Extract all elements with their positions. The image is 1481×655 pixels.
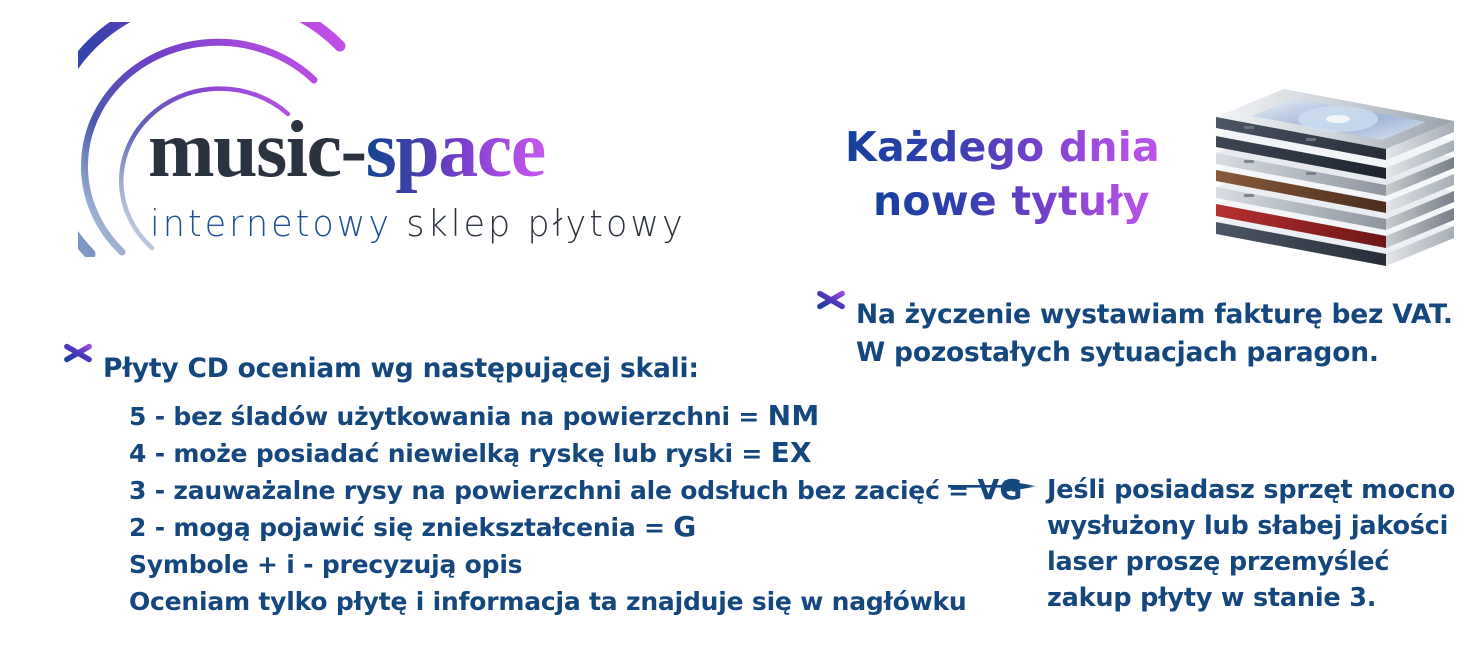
- tagline-part-sklep-plytowy: sklep płytowy: [392, 204, 686, 246]
- grading-row-grade: EX: [771, 436, 812, 469]
- grading-row: 2 - mogą pojawić się zniekształcenia = G: [129, 509, 1023, 546]
- wordmark-music: music-: [148, 106, 366, 194]
- grading-row: Oceniam tylko płytę i informacja ta znaj…: [129, 583, 1023, 620]
- banner-canvas: music-space internetowy sklep płytowy Ka…: [0, 0, 1481, 655]
- vat-note-line-1: Na życzenie wystawiam fakturę bez VAT.: [856, 296, 1453, 334]
- advice-line: laser proszę przemyśleć: [1047, 544, 1455, 580]
- grading-heading: Płyty CD oceniam wg następującej skali:: [103, 352, 699, 386]
- advice-note: Jeśli posiadasz sprzęt mocno wysłużony l…: [1047, 472, 1455, 616]
- tagline-part-internetowy: internetowy: [150, 204, 392, 246]
- grading-row-grade: G: [673, 510, 696, 543]
- grading-row-text: 4 - może posiadać niewielką ryskę lub ry…: [129, 439, 771, 468]
- brand-logo[interactable]: music-space internetowy sklep płytowy: [78, 22, 778, 257]
- slogan: Każdego dnia nowe tytuły: [845, 120, 1160, 228]
- grading-row: 5 - bez śladów użytkowania na powierzchn…: [129, 398, 1023, 435]
- grading-row-text: 2 - mogą pojawić się zniekształcenia =: [129, 513, 673, 542]
- grading-row-text: Oceniam tylko płytę i informacja ta znaj…: [129, 587, 967, 616]
- grading-row-text: 5 - bez śladów użytkowania na powierzchn…: [129, 402, 768, 431]
- wordmark-space: space: [366, 106, 545, 194]
- advice-line: Jeśli posiadasz sprzęt mocno: [1047, 472, 1455, 508]
- grading-scale-list: 5 - bez śladów użytkowania na powierzchn…: [129, 398, 1023, 620]
- grading-row-text: 3 - zauważalne rysy na powierzchni ale o…: [129, 476, 977, 505]
- brand-tagline: internetowy sklep płytowy: [150, 204, 686, 246]
- vat-note: Na życzenie wystawiam fakturę bez VAT. W…: [856, 296, 1453, 371]
- advice-line: zakup płyty w stanie 3.: [1047, 580, 1455, 616]
- grading-row: 4 - może posiadać niewielką ryskę lub ry…: [129, 435, 1023, 472]
- grading-row-grade: NM: [768, 399, 820, 432]
- grading-row: Symbole + i - precyzują opis: [129, 546, 1023, 583]
- arrow-right-icon: [948, 476, 1042, 498]
- slogan-line-2: nowe tytuły: [873, 174, 1160, 228]
- brand-wordmark: music-space: [148, 110, 545, 190]
- vat-note-line-2: W pozostałych sytuacjach paragon.: [856, 334, 1453, 372]
- cd-jewel-case-stack-image: [1186, 54, 1478, 276]
- grading-row-text: Symbole + i - precyzują opis: [129, 550, 522, 579]
- asterisk-star-icon: [816, 284, 846, 316]
- grading-row: 3 - zauważalne rysy na powierzchni ale o…: [129, 472, 1023, 509]
- asterisk-star-icon: [63, 337, 93, 369]
- advice-line: wysłużony lub słabej jakości: [1047, 508, 1455, 544]
- slogan-line-1: Każdego dnia: [845, 120, 1160, 174]
